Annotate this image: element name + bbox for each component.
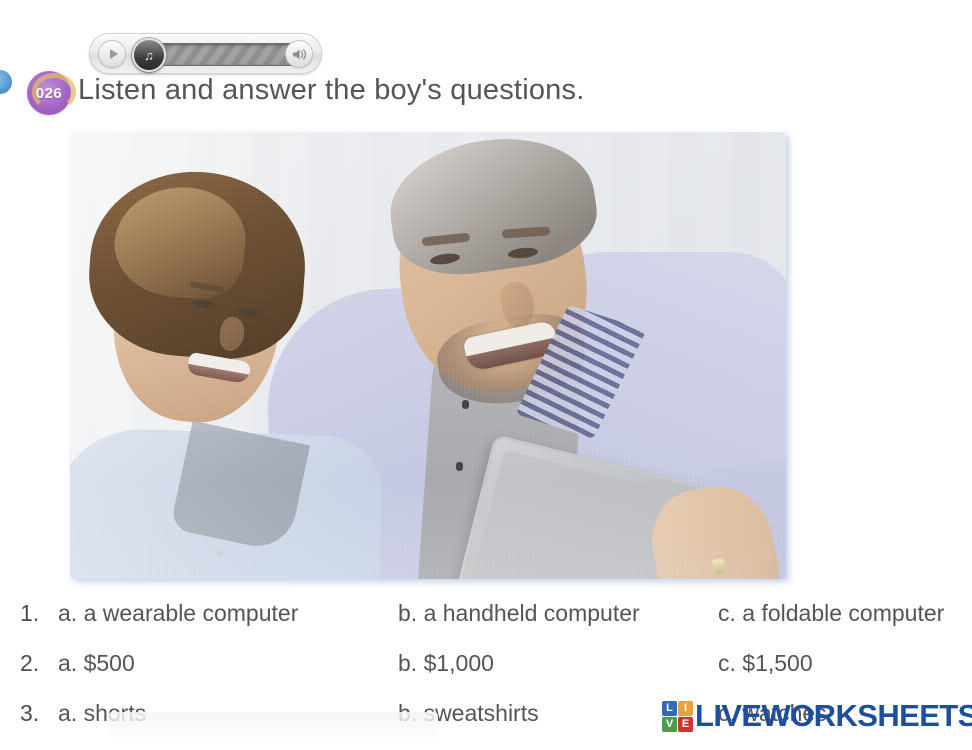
boy-button [216, 550, 223, 557]
liveworksheets-watermark: L I V E LIVEWORKSHEETS [662, 698, 972, 734]
liveworksheets-logo-icon: L I V E [662, 701, 693, 732]
logo-tile-e: E [678, 717, 693, 732]
page-marker-dot [0, 70, 12, 94]
question-number: 1. [20, 600, 39, 627]
option-2c[interactable]: c. $1,500 [718, 650, 813, 677]
audio-progress-track[interactable] [145, 43, 302, 66]
play-triangle [110, 49, 118, 59]
option-2b[interactable]: b. $1,000 [398, 650, 494, 677]
track-number-badge: 026 [27, 71, 71, 115]
man-button [456, 462, 463, 471]
question-row-2: 2. a. $500 b. $1,000 c. $1,500 [0, 650, 972, 700]
option-1c[interactable]: c. a foldable computer [718, 600, 944, 627]
logo-tile-v: V [662, 717, 677, 732]
question-number: 3. [20, 700, 39, 727]
track-number: 026 [36, 85, 63, 102]
question-number: 2. [20, 650, 39, 677]
volume-glyph [292, 48, 307, 61]
logo-tile-l: L [662, 701, 677, 716]
option-1a[interactable]: a. a wearable computer [58, 600, 298, 627]
option-1b[interactable]: b. a handheld computer [398, 600, 640, 627]
logo-tile-i: I [678, 701, 693, 716]
audio-player[interactable]: ♫ [89, 33, 322, 74]
photo-illustration [70, 132, 786, 579]
play-icon[interactable] [98, 40, 126, 68]
page-title: Listen and answer the boy's questions. [78, 74, 584, 107]
man-button [462, 400, 469, 409]
lesson-photo [70, 132, 786, 579]
page-artifact-band [108, 712, 438, 738]
volume-icon[interactable] [285, 40, 313, 68]
option-2a[interactable]: a. $500 [58, 650, 135, 677]
knob-glyph: ♫ [144, 49, 154, 62]
question-row-1: 1. a. a wearable computer b. a handheld … [0, 600, 972, 650]
music-note-icon[interactable]: ♫ [132, 38, 166, 72]
watermark-text: LIVEWORKSHEETS [695, 698, 972, 734]
